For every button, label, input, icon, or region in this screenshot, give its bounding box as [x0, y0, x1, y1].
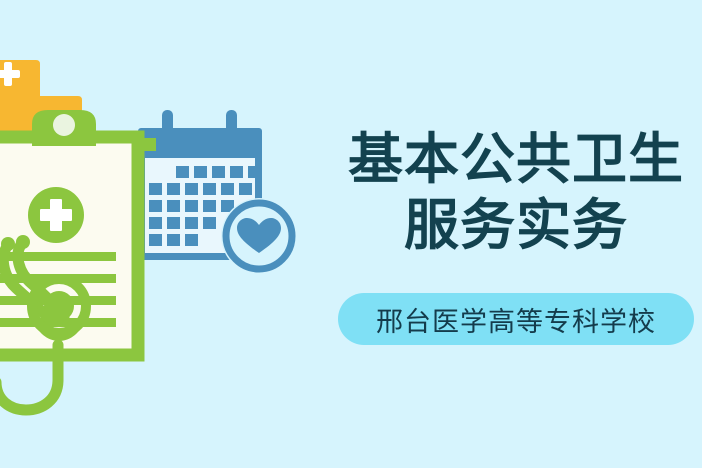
- stethoscope-eartip-right: [16, 235, 30, 249]
- banner-text-block: 基本公共卫生 服务实务 邢台医学高等专科学校: [330, 0, 702, 468]
- stethoscope-eartip-left: [1, 237, 15, 251]
- plus-badge-icon: [28, 187, 84, 243]
- course-banner: 基本公共卫生 服务实务 邢台医学高等专科学校: [0, 0, 702, 468]
- medical-illustration: [0, 0, 330, 468]
- banner-title-line-2: 服务实务: [330, 196, 702, 254]
- banner-title-line-1: 基本公共卫生: [330, 130, 702, 188]
- institution-name: 邢台医学高等专科学校: [376, 300, 656, 339]
- institution-badge: 邢台医学高等专科学校: [338, 293, 694, 345]
- heart-badge-icon: [221, 198, 297, 274]
